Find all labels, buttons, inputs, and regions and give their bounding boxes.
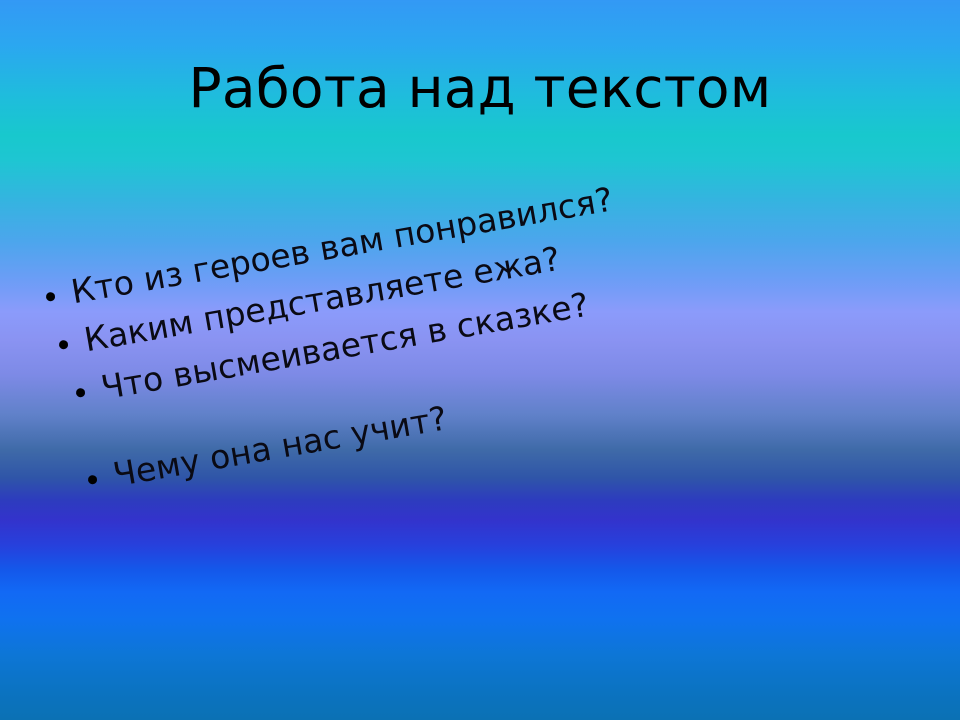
presentation-slide: Работа над текстом Кто из героев вам пон…: [0, 0, 960, 720]
bullet-dot-icon: [87, 474, 97, 484]
slide-title: Работа над текстом: [0, 57, 960, 119]
bullet-dot-icon: [75, 387, 85, 397]
list-item: Чему она нас учит?: [85, 399, 450, 498]
bullet-dot-icon: [58, 339, 68, 349]
bullet-dot-icon: [45, 291, 55, 301]
list-item-label: Чему она нас учит?: [110, 399, 450, 494]
